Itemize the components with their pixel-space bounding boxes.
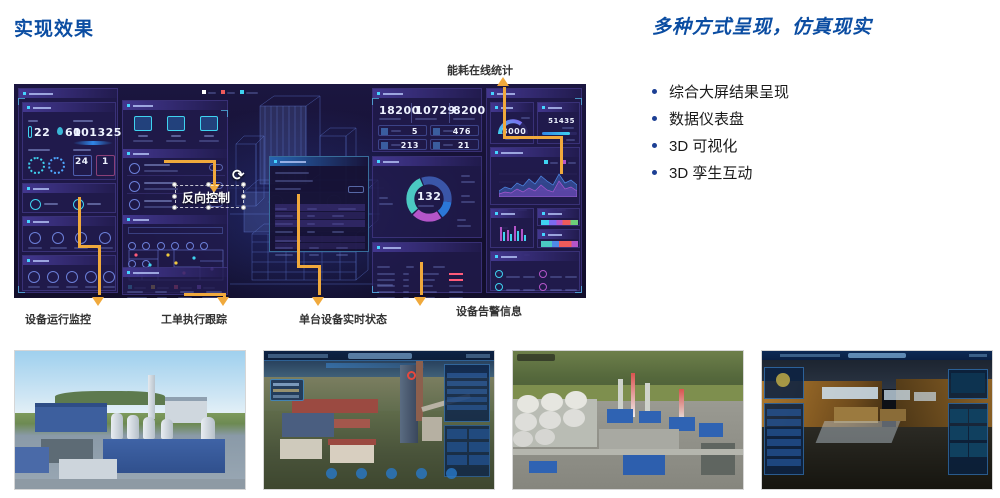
storage-tank <box>563 409 585 427</box>
switch-card-2 <box>163 116 189 144</box>
hvac-block-header <box>23 256 115 265</box>
selection-handle-ml[interactable] <box>172 194 177 199</box>
alarm-status-chip[interactable] <box>209 164 223 171</box>
topbar-actions[interactable] <box>969 354 987 357</box>
meter-value: 51435 <box>548 117 575 125</box>
annotation-arrow-reverse-control-stem <box>213 160 216 186</box>
table-row[interactable] <box>275 243 365 249</box>
annotation-arrow-alarm-v <box>420 262 423 295</box>
bullet-dot-icon <box>652 89 657 94</box>
screenshot-refinery-aerial[interactable] <box>512 350 744 490</box>
energy-panel-header <box>487 89 581 98</box>
topbar-title <box>348 353 412 359</box>
fire-icon-2 <box>52 232 64 244</box>
tank-c <box>143 417 155 439</box>
bullet-dot-icon <box>652 116 657 121</box>
storage-tank <box>541 393 563 411</box>
bottom-nav-icon[interactable] <box>356 468 367 479</box>
label-temp <box>28 120 38 122</box>
silo-right <box>422 417 442 441</box>
today-power-area-block <box>490 147 580 205</box>
page-title-right: 多种方式呈现，仿真现实 <box>652 12 872 39</box>
overlay-more-button[interactable] <box>348 186 364 193</box>
humidity-icon <box>57 127 63 135</box>
structure-row-left <box>35 406 107 432</box>
selection-handle-tl[interactable] <box>172 182 177 187</box>
topbar-menu[interactable] <box>268 354 328 358</box>
corner-deco-tr <box>575 98 582 105</box>
label-fault <box>73 149 91 151</box>
water-heat-strip <box>541 241 578 247</box>
stat-big-label-3 <box>453 118 475 120</box>
table-row[interactable] <box>275 236 365 242</box>
device-label-2 <box>87 203 101 205</box>
corner-deco-tl <box>18 98 25 105</box>
pipe-rack <box>15 447 49 473</box>
main-building-roof <box>165 397 207 401</box>
list-item: 3D 孪生互动 <box>652 159 982 186</box>
window-strip <box>884 390 910 400</box>
list-item-label: 3D 可视化 <box>669 135 737 156</box>
callout-arrowhead-status <box>312 297 324 306</box>
switch-cabinet-header <box>123 101 227 110</box>
env-block-header <box>23 103 115 112</box>
chimney <box>148 375 155 419</box>
kpi-cell <box>447 455 467 465</box>
energy-analysis-panel: 3000 51435 <box>486 88 582 293</box>
donut-legend-pct-1 <box>461 175 470 177</box>
kpi-cell <box>469 455 489 465</box>
topbar-menu[interactable] <box>780 354 840 357</box>
plant-building <box>282 413 334 437</box>
right-panel-row <box>447 397 487 402</box>
storage-tank <box>517 395 539 413</box>
list-item-label: 数据仪表盘 <box>669 108 744 129</box>
camera-preview-feed <box>951 373 985 393</box>
annotation-arrow-monitor-h <box>78 197 81 247</box>
list-row <box>767 439 801 446</box>
env-monitor-block: 22 60 101325 24 1 <box>22 102 116 180</box>
camera-cell[interactable] <box>950 443 968 457</box>
camera-cell[interactable] <box>969 426 987 440</box>
feature-bullet-list: 综合大屏结果呈现 数据仪表盘 3D 可视化 3D 孪生互动 <box>652 78 982 186</box>
window-strip <box>822 387 878 399</box>
right-panel-row <box>447 373 487 378</box>
area-chart-header <box>491 148 579 157</box>
dashboard-status-indicators <box>202 90 258 94</box>
annotation-arrow-status-v <box>297 194 300 268</box>
process-yard <box>599 429 679 451</box>
blue-roof-unit <box>623 455 665 475</box>
kpi-cell <box>447 429 467 439</box>
subitem-water-block <box>537 229 580 248</box>
fire-block-header <box>23 217 115 226</box>
selection-handle-br[interactable] <box>241 205 246 210</box>
storage-tank <box>513 431 533 447</box>
device-map-header <box>123 215 227 224</box>
corner-deco-tl <box>372 98 379 105</box>
kpi-cell <box>469 442 489 452</box>
key-devices-block <box>490 251 580 291</box>
subitem-energy-block <box>537 208 580 226</box>
energy-heat-strip <box>541 220 578 225</box>
stat-big-label-2 <box>415 118 437 120</box>
left-overview-panel: 22 60 101325 24 1 <box>18 88 118 293</box>
blue-roof-unit <box>639 411 661 423</box>
stat-small-1[interactable]: 5 <box>378 125 427 136</box>
donut-legend-pct-4 <box>379 197 388 199</box>
office-building <box>280 439 322 459</box>
temperature-icon <box>28 126 32 138</box>
callout-arrowhead-workorder <box>217 297 229 306</box>
alarm-device-header <box>123 149 227 158</box>
storage-tank <box>539 411 561 429</box>
field-produce-date <box>275 180 313 182</box>
field-inspect-record <box>275 188 301 190</box>
callout-arrowhead-monitor <box>92 297 104 306</box>
bottom-nav-icon[interactable] <box>446 468 457 479</box>
left-popup-row <box>273 383 299 386</box>
hvac-icon-4 <box>85 271 97 283</box>
list-item-label: 3D 孪生互动 <box>669 162 752 183</box>
meter-block-header <box>538 103 579 112</box>
slide-root: 实现效果 多种方式呈现，仿真现实 综合大屏结果呈现 数据仪表盘 3D 可视化 3… <box>0 0 1000 498</box>
fault-count-value: 1 <box>102 157 109 167</box>
shared-device-block <box>22 183 116 213</box>
power-area-chart <box>499 167 577 197</box>
annotation-arrow-status-v2 <box>318 265 321 295</box>
rotate-handle-icon[interactable]: ⟳ <box>232 166 245 184</box>
topbar-actions[interactable] <box>466 354 490 358</box>
list-row <box>767 449 801 456</box>
list-item-label: 综合大屏结果呈现 <box>669 81 789 102</box>
device-label-1 <box>44 203 58 205</box>
right-panel-row <box>447 389 487 394</box>
ui-overlay-bar[interactable] <box>517 354 555 361</box>
callout-alarm-info: 设备告警信息 <box>456 303 522 319</box>
alarm-list-header <box>373 243 481 252</box>
device-chip-row <box>128 237 224 246</box>
storage-tank <box>565 391 587 409</box>
hvac-icon-3 <box>66 271 78 283</box>
dashboard-screenshot: 22 60 101325 24 1 <box>14 84 586 298</box>
cooling-tower <box>701 443 735 475</box>
switch-card-3 <box>196 116 222 144</box>
selection-handle-tc[interactable] <box>206 182 211 187</box>
villa-roof <box>328 439 376 445</box>
callout-arrowhead-energy <box>497 77 509 86</box>
key-device-row[interactable] <box>539 278 579 296</box>
donut-legend-pct-2 <box>461 195 470 197</box>
overlay-panel-header <box>270 157 368 166</box>
access-road <box>513 449 743 455</box>
camera-cell[interactable] <box>950 409 968 423</box>
list-item: 数据仪表盘 <box>652 105 982 132</box>
left-badge-icon <box>776 373 790 387</box>
hvac-label-2 <box>47 286 59 288</box>
offline-ring-icon <box>48 157 65 174</box>
callout-device-monitor: 设备运行监控 <box>25 311 91 327</box>
shared-block-header <box>23 184 115 193</box>
switch-card-1 <box>130 116 156 144</box>
kpi-cell <box>469 429 489 439</box>
fire-icon-1 <box>29 232 41 244</box>
pressure-underline <box>73 141 113 145</box>
donut-legend-label-3 <box>457 225 471 227</box>
hvac-label-3 <box>66 286 78 288</box>
pallet-stack <box>880 409 906 421</box>
device-ring-1 <box>30 199 41 210</box>
right-panel-row <box>447 405 487 410</box>
bullet-dot-icon <box>652 170 657 175</box>
online-count-value: 24 <box>75 157 89 167</box>
bar-chart-header <box>491 209 533 218</box>
callout-device-status: 单台设备实时状态 <box>299 311 387 327</box>
corner-deco-bl <box>18 286 25 293</box>
hotspot-marker-icon[interactable] <box>407 371 416 380</box>
selection-handle-mr[interactable] <box>241 194 246 199</box>
page-title-left: 实现效果 <box>14 14 94 41</box>
annotation-arrow-energy-horiz <box>503 136 563 139</box>
storage-tank <box>515 413 537 431</box>
fire-icon-3 <box>75 232 87 244</box>
online-ring-icon <box>28 157 45 174</box>
fire-device-block <box>22 216 116 252</box>
foreground-road <box>15 479 246 489</box>
left-popup-row <box>273 395 299 398</box>
camera-cell[interactable] <box>950 426 968 440</box>
blue-roof-unit <box>529 461 557 473</box>
kpi-cell <box>447 442 467 452</box>
tank-b <box>127 415 139 439</box>
bullet-dot-icon <box>652 143 657 148</box>
table-row[interactable] <box>127 286 225 298</box>
donut-legend-pct-3 <box>457 219 466 221</box>
device-tab-strip[interactable] <box>128 227 223 234</box>
temperature-value: 22 <box>34 126 50 139</box>
subitem-header <box>538 209 579 218</box>
meter-progress-track <box>542 132 577 135</box>
annotation-arrow-energy-down <box>560 136 563 174</box>
left-panel-header <box>19 89 117 98</box>
selection-handle-bl[interactable] <box>172 205 177 210</box>
list-row <box>767 429 801 436</box>
field-device-name <box>275 172 309 174</box>
alarm-list-table-panel <box>372 242 482 293</box>
structure-row-left-top <box>35 403 107 407</box>
screenshot-cement-twin-ui[interactable] <box>263 350 495 490</box>
villa <box>330 443 374 463</box>
annotation-arrow-monitor-v <box>98 245 101 295</box>
annotation-arrow-energy-stem <box>503 87 506 139</box>
table-row[interactable] <box>377 286 479 298</box>
meter-unit-label <box>562 127 574 129</box>
region-bar-chart <box>497 223 531 241</box>
tank-d <box>161 419 173 439</box>
stat-small-4[interactable]: 21 <box>430 139 479 150</box>
reverse-control-label: 反向控制 <box>182 189 230 206</box>
fire-label-2 <box>50 247 67 249</box>
process-unit-front <box>103 439 225 473</box>
donut-panel-header <box>373 157 481 166</box>
annotation-arrow-workorder-h <box>184 293 226 296</box>
water-header <box>538 230 579 239</box>
right-panel-row <box>447 381 487 386</box>
donut-center-value: 132 <box>417 190 441 203</box>
gauge-block-header <box>491 103 533 112</box>
list-row <box>767 409 801 416</box>
gauge-pct-label <box>521 117 530 119</box>
bottom-nav-icon[interactable] <box>386 468 397 479</box>
table-row[interactable] <box>275 204 365 211</box>
hvac-label-4 <box>85 286 97 288</box>
label-pressure <box>73 120 93 122</box>
blue-roof-unit <box>699 423 723 437</box>
hvac-label-5 <box>103 286 115 288</box>
donut-center-label <box>418 205 434 207</box>
red-roof-a <box>292 399 378 413</box>
alarm-donut-panel: 132 <box>372 156 482 238</box>
region-power-bar-block <box>490 208 534 248</box>
camera-cell[interactable] <box>969 443 987 457</box>
callout-energy-stats: 能耗在线统计 <box>447 62 513 78</box>
fire-icon-4 <box>99 232 111 244</box>
silo-cluster <box>59 459 117 479</box>
callout-arrowhead-alarm <box>414 297 426 306</box>
realtime-alarm-table-panel <box>122 267 228 295</box>
fire-label-1 <box>28 247 42 249</box>
table-row[interactable] <box>275 220 365 227</box>
meter-progress-fill <box>542 132 570 135</box>
label-online-offline <box>28 149 50 151</box>
ai-inspection-overlay-panel <box>269 156 369 252</box>
bottom-nav-icon[interactable] <box>416 468 427 479</box>
stat-small-2[interactable]: 476 <box>430 125 479 136</box>
alarm-row[interactable] <box>127 161 225 176</box>
camera-cell[interactable] <box>969 409 987 423</box>
annotation-arrow-reverse-control <box>164 160 216 163</box>
hvac-label-1 <box>28 286 40 288</box>
stat-big-label-1 <box>379 118 401 120</box>
pressure-value: 101325 <box>73 126 122 139</box>
blue-roof-unit <box>607 409 633 423</box>
corner-deco-br <box>575 286 582 293</box>
stat-big-3: 8200 <box>453 104 486 117</box>
donut-legend-label-4 <box>379 203 393 205</box>
list-row <box>767 459 801 466</box>
bottom-nav-icon[interactable] <box>326 468 337 479</box>
screenshot-plant-overview[interactable] <box>14 350 246 490</box>
hvac-icon-2 <box>47 271 59 283</box>
window-strip <box>914 392 936 401</box>
corner-deco-tr <box>221 110 228 117</box>
left-popup-row <box>273 389 299 392</box>
table-row[interactable] <box>275 212 365 219</box>
stats-overview-panel: 18200 10729 8200 5 476 213 <box>372 88 482 152</box>
hvac-device-block <box>22 255 116 291</box>
key-devices-header <box>491 252 579 261</box>
screenshot-indoor-safety-platform[interactable] <box>761 350 993 490</box>
list-item: 3D 可视化 <box>652 132 982 159</box>
walkway-highlight <box>816 421 901 443</box>
stat-small-3[interactable]: 213 <box>378 139 427 150</box>
hvac-icon-1 <box>28 271 40 283</box>
storage-tank <box>535 429 555 445</box>
list-item: 综合大屏结果呈现 <box>652 78 982 105</box>
stats-panel-header <box>373 89 481 98</box>
callout-workorder-tracking: 工单执行跟踪 <box>161 311 227 327</box>
list-row <box>767 419 801 426</box>
hvac-icon-5 <box>103 271 115 283</box>
tank-a <box>111 413 123 439</box>
corner-deco-bl <box>372 286 379 293</box>
donut-legend-label-1 <box>461 181 475 183</box>
key-device-row[interactable] <box>495 278 537 296</box>
realtime-alarm-header <box>123 268 227 277</box>
topbar-title <box>848 353 906 358</box>
stat-big-1: 18200 <box>379 104 420 117</box>
meter-pct-label <box>566 139 575 141</box>
donut-legend-label-2 <box>461 201 475 203</box>
